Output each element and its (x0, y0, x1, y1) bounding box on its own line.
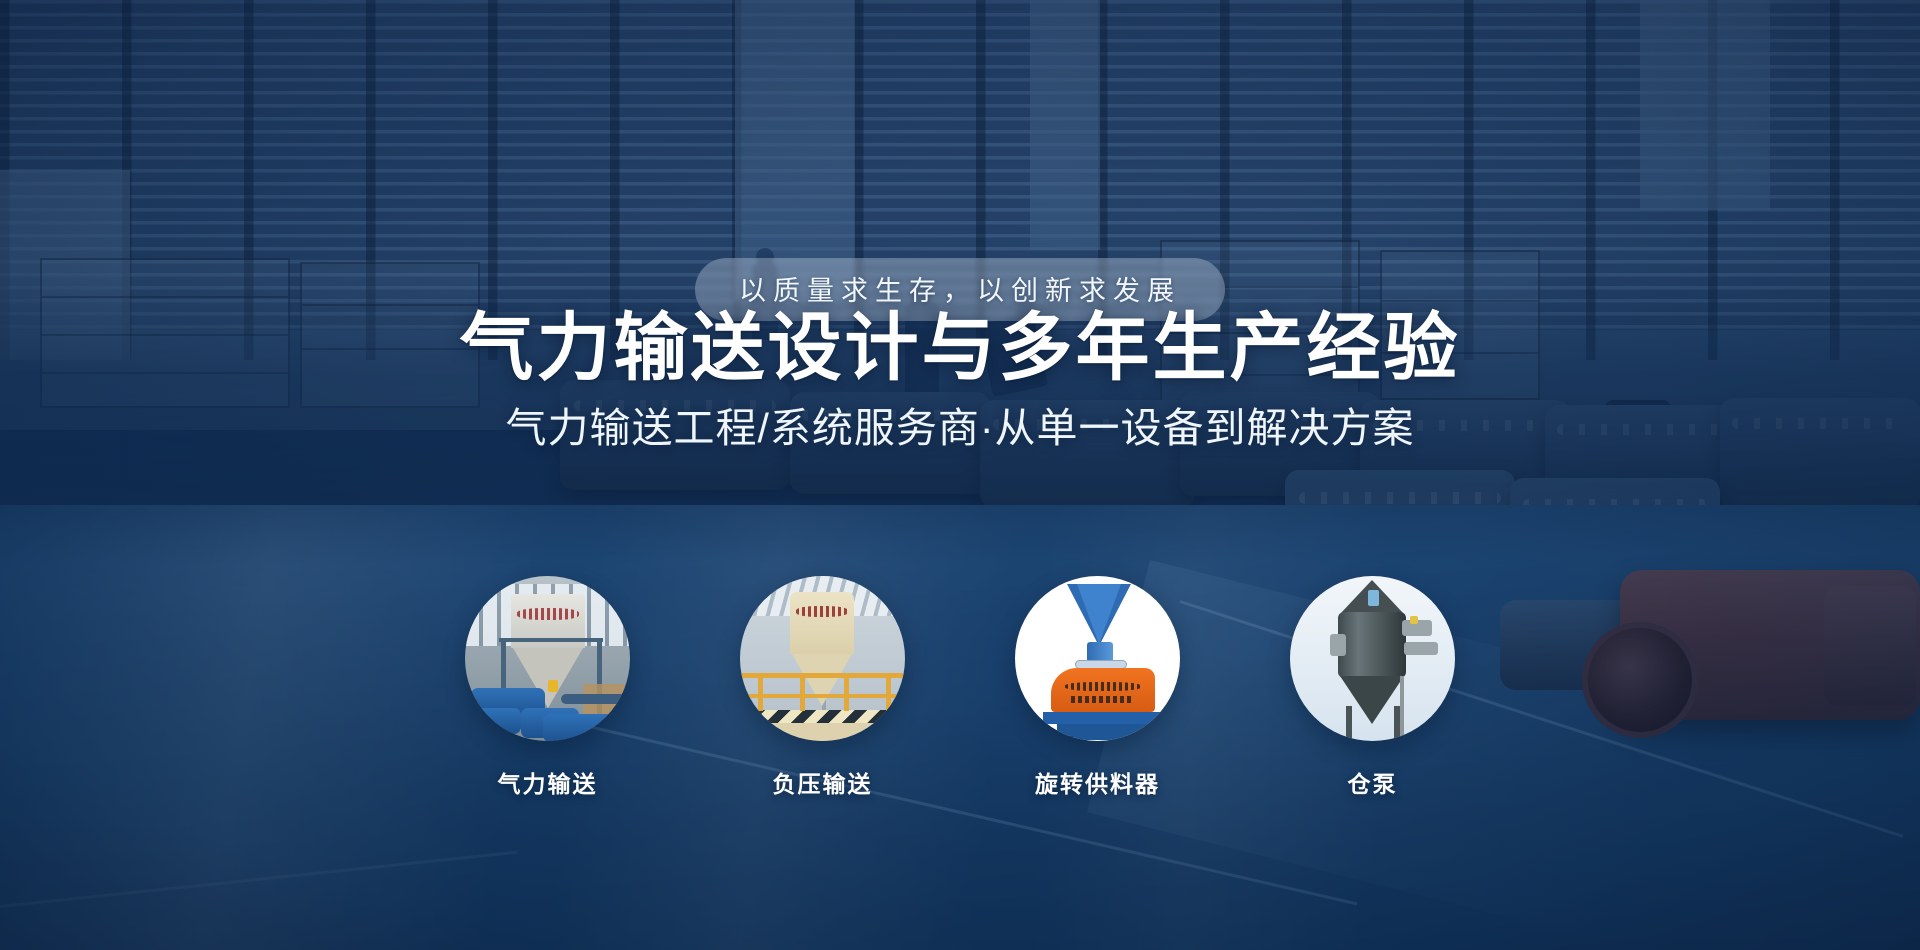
product-thumbnail-label: 负压输送 (773, 765, 873, 799)
pneumatic-conveying-photo[interactable] (465, 576, 630, 741)
hero-banner: 以质量求生存，以创新求发展 气力输送设计与多年生产经验 气力输送工程/系统服务商… (0, 0, 1920, 950)
product-thumbnail-label: 气力输送 (498, 765, 598, 799)
banner-content: 以质量求生存，以创新求发展 气力输送设计与多年生产经验 气力输送工程/系统服务商… (0, 0, 1920, 950)
product-thumbnail-label: 仓泵 (1348, 765, 1398, 799)
product-thumbnail-list: 气力输送 (0, 576, 1920, 799)
product-thumbnail-item[interactable]: 旋转供料器 (1015, 576, 1180, 799)
pneumatic-pump-vessel-photo[interactable] (1290, 576, 1455, 741)
product-thumbnail-label: 旋转供料器 (1035, 765, 1160, 799)
product-thumbnail-item[interactable]: 仓泵 (1290, 576, 1455, 799)
product-thumbnail-item[interactable]: 负压输送 (740, 576, 905, 799)
rotary-feeder-photo[interactable] (1015, 576, 1180, 741)
negative-pressure-conveying-photo[interactable] (740, 576, 905, 741)
product-thumbnail-item[interactable]: 气力输送 (465, 576, 630, 799)
page-subtitle: 气力输送工程/系统服务商·从单一设备到解决方案 (505, 394, 1414, 454)
page-title: 气力输送设计与多年生产经验 (460, 288, 1461, 395)
